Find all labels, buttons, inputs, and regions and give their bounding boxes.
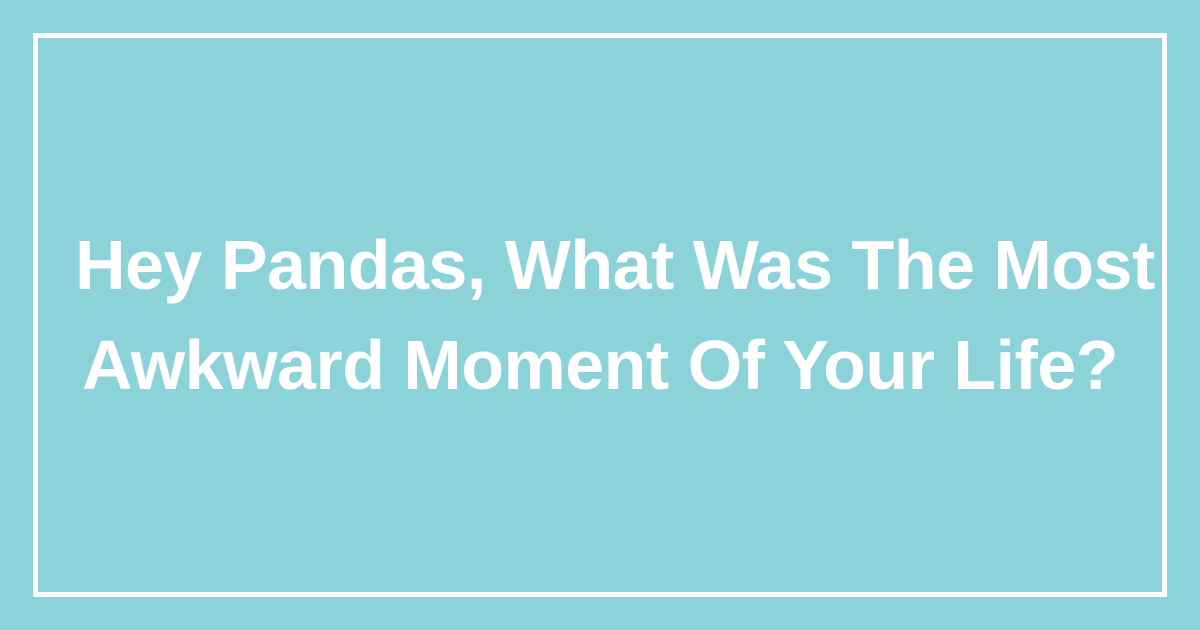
social-share-card: Hey Pandas, What Was The Most Awkward Mo… xyxy=(0,0,1200,630)
card-content-area: Hey Pandas, What Was The Most Awkward Mo… xyxy=(33,33,1167,597)
headline-title: Hey Pandas, What Was The Most Awkward Mo… xyxy=(75,215,1125,415)
headline-line-2: Awkward Moment Of Your Life? xyxy=(75,315,1125,415)
headline-line-1: Hey Pandas, What Was The Most xyxy=(75,215,1125,315)
